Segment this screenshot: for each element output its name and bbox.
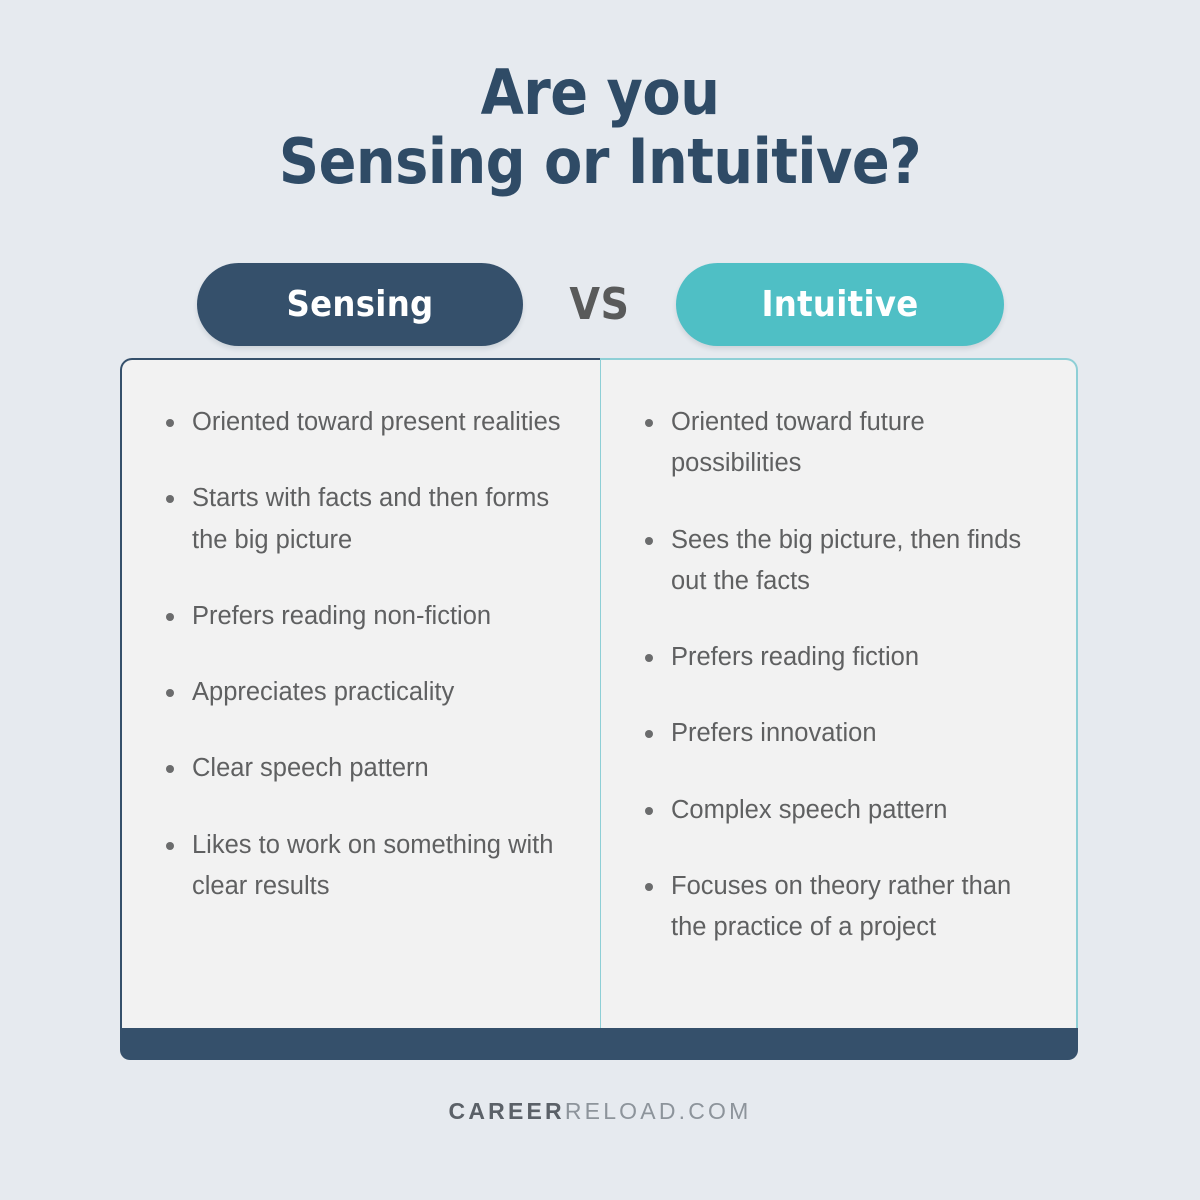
list-item: Oriented toward future possibilities: [643, 402, 1043, 485]
pill-intuitive[interactable]: Intuitive: [676, 263, 1004, 346]
page-title: Are you Sensing or Intuitive?: [0, 58, 1200, 197]
comparison-header-row: Sensing VS Intuitive: [120, 263, 1078, 346]
intuitive-trait-list: Oriented toward future possibilities See…: [643, 402, 1050, 949]
brand-name-bold: CAREER: [449, 1098, 565, 1124]
list-item: Prefers reading fiction: [643, 637, 1043, 678]
pill-sensing-label: Sensing: [286, 284, 433, 325]
sensing-trait-list: Oriented toward present realities Starts…: [164, 402, 574, 907]
card-intuitive: Oriented toward future possibilities See…: [600, 358, 1078, 1030]
panel-footer-bar: [120, 1028, 1078, 1060]
list-item: Complex speech pattern: [643, 790, 1043, 831]
infographic-page: Are you Sensing or Intuitive? Sensing VS…: [0, 0, 1200, 1200]
list-item: Oriented toward present realities: [164, 402, 564, 443]
pill-sensing[interactable]: Sensing: [197, 263, 523, 346]
pill-intuitive-label: Intuitive: [761, 284, 918, 325]
page-title-line-2: Sensing or Intuitive?: [0, 127, 1200, 196]
brand-footer: CAREERRELOAD.COM: [0, 1098, 1200, 1125]
list-item: Clear speech pattern: [164, 748, 564, 789]
list-item: Prefers reading non-fiction: [164, 596, 564, 637]
card-sensing: Oriented toward present realities Starts…: [120, 358, 601, 1030]
list-item: Likes to work on something with clear re…: [164, 825, 564, 908]
list-item: Prefers innovation: [643, 713, 1043, 754]
list-item: Sees the big picture, then finds out the…: [643, 520, 1043, 603]
brand-name-light: RELOAD.COM: [565, 1098, 752, 1124]
versus-label: VS: [523, 263, 676, 346]
comparison-panel: Oriented toward present realities Starts…: [120, 358, 1078, 1060]
list-item: Starts with facts and then forms the big…: [164, 478, 564, 561]
page-title-line-1: Are you: [0, 58, 1200, 127]
list-item: Focuses on theory rather than the practi…: [643, 866, 1043, 949]
list-item: Appreciates practicality: [164, 672, 564, 713]
